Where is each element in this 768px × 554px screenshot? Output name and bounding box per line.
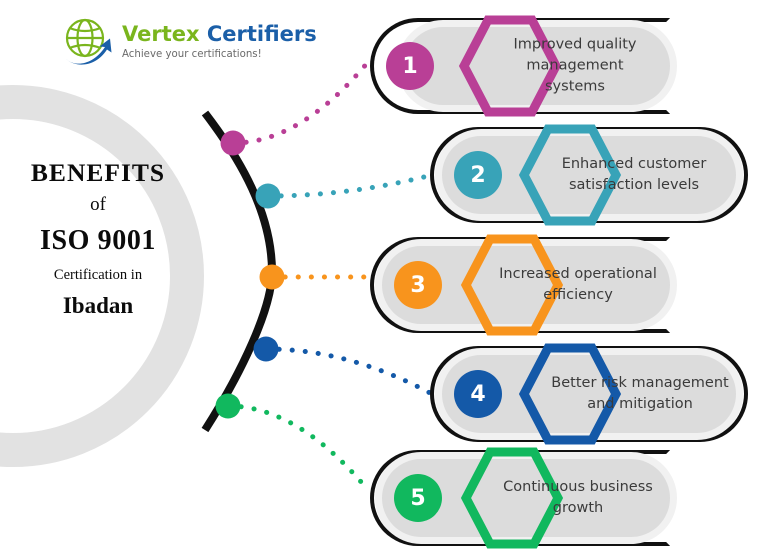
globe-arrow-icon bbox=[58, 16, 116, 68]
title-line-certification: Certification in bbox=[0, 258, 196, 292]
title-block: BENEFITS of ISO 9001 Certification in Ib… bbox=[0, 158, 196, 320]
logo-tagline: Achieve your certifications! bbox=[122, 50, 317, 60]
benefit-number-badge: 3 bbox=[394, 261, 442, 309]
benefit-label: Enhanced customer satisfaction levels bbox=[534, 154, 734, 196]
benefit-number-badge: 2 bbox=[454, 151, 502, 199]
logo-name-secondary: Certifiers bbox=[207, 22, 317, 46]
title-line-benefits: BENEFITS bbox=[0, 158, 196, 187]
title-line-city: Ibadan bbox=[0, 292, 196, 320]
logo-name-primary: Vertex bbox=[122, 22, 200, 46]
infographic-canvas: Vertex Certifiers Achieve your certifica… bbox=[0, 0, 768, 545]
benefit-row[interactable]: 5 Continuous business growth bbox=[0, 450, 768, 546]
title-line-standard: ISO 9001 bbox=[0, 223, 196, 258]
benefit-number-badge: 5 bbox=[394, 474, 442, 522]
benefit-label: Improved quality management systems bbox=[470, 34, 680, 97]
benefit-row[interactable]: 4 Better risk management and mitigation bbox=[0, 346, 768, 442]
title-line-of: of bbox=[0, 187, 196, 223]
benefit-label: Continuous business growth bbox=[476, 477, 680, 519]
benefit-number-badge: 1 bbox=[386, 42, 434, 90]
benefit-number-badge: 4 bbox=[454, 370, 502, 418]
benefit-label: Better risk management and mitigation bbox=[534, 373, 746, 415]
brand-logo: Vertex Certifiers Achieve your certifica… bbox=[58, 14, 268, 70]
benefit-label: Increased operational efficiency bbox=[476, 264, 680, 306]
